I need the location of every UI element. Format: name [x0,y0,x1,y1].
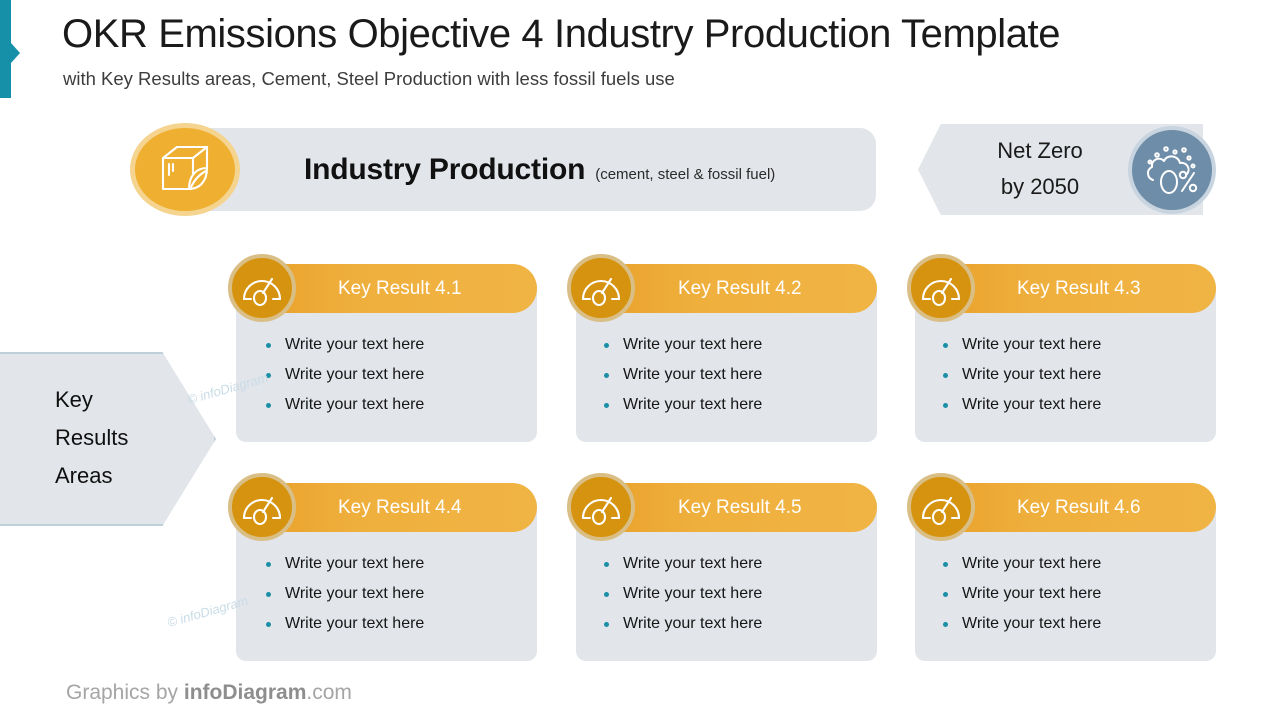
list-item[interactable]: Write your text here [604,579,854,609]
bullet-dot-icon [266,343,271,348]
bullet-dot-icon [943,373,948,378]
bullet-text: Write your text here [623,336,762,354]
bullet-text: Write your text here [623,585,762,603]
bullet-dot-icon [604,592,609,597]
bullet-text: Write your text here [285,396,424,414]
net-zero-text: Net Zero by 2050 [960,133,1120,205]
key-result-bullet-list: Write your text here Write your text her… [266,330,516,420]
bullet-dot-icon [266,562,271,567]
key-result-header-bar[interactable]: Key Result 4.1 [256,264,537,313]
list-item[interactable]: Write your text here [604,549,854,579]
bullet-text: Write your text here [623,366,762,384]
key-result-label: Key Result 4.1 [338,264,462,313]
key-result-header-bar[interactable]: Key Result 4.2 [596,264,877,313]
list-item[interactable]: Write your text here [604,390,854,420]
list-item[interactable]: Write your text here [266,579,516,609]
list-item[interactable]: Write your text here [266,360,516,390]
gauge-icon [228,473,296,541]
footer-prefix: Graphics by [66,681,184,704]
gauge-icon [567,473,635,541]
bullet-dot-icon [943,622,948,627]
gauge-icon [228,254,296,322]
bullet-dot-icon [943,343,948,348]
list-item[interactable]: Write your text here [266,390,516,420]
list-item[interactable]: Write your text here [943,390,1193,420]
list-item[interactable]: Write your text here [604,360,854,390]
key-result-label: Key Result 4.4 [338,483,462,532]
bullet-dot-icon [943,562,948,567]
bullet-dot-icon [604,403,609,408]
bullet-dot-icon [604,373,609,378]
bullet-text: Write your text here [285,555,424,573]
objective-subtitle: (cement, steel & fossil fuel) [595,166,775,183]
bullet-text: Write your text here [962,615,1101,633]
kra-line2: Results [55,419,128,457]
bullet-text: Write your text here [285,615,424,633]
bullet-text: Write your text here [962,585,1101,603]
objective-title: Industry Production [304,153,585,187]
bullet-text: Write your text here [623,615,762,633]
page-title: OKR Emissions Objective 4 Industry Produ… [62,12,1060,57]
bullet-text: Write your text here [623,396,762,414]
bullet-text: Write your text here [285,336,424,354]
list-item[interactable]: Write your text here [266,330,516,360]
footer-brand: infoDiagram [184,681,307,704]
slide-canvas: OKR Emissions Objective 4 Industry Produ… [0,0,1280,720]
list-item[interactable]: Write your text here [266,609,516,639]
gauge-icon [567,254,635,322]
key-result-header-bar[interactable]: Key Result 4.3 [935,264,1216,313]
key-result-header-bar[interactable]: Key Result 4.6 [935,483,1216,532]
objective-bar[interactable]: Industry Production (cement, steel & fos… [184,128,876,211]
list-item[interactable]: Write your text here [943,609,1193,639]
bullet-text: Write your text here [962,555,1101,573]
teal-accent-bar [0,0,11,98]
key-result-label: Key Result 4.2 [678,264,802,313]
gauge-icon [907,473,975,541]
teal-accent-arrow-icon [11,43,20,63]
bullet-text: Write your text here [285,366,424,384]
box-leaf-icon [130,123,240,216]
key-result-header-bar[interactable]: Key Result 4.5 [596,483,877,532]
list-item[interactable]: Write your text here [943,360,1193,390]
bullet-dot-icon [943,592,948,597]
key-result-bullet-list: Write your text here Write your text her… [943,549,1193,639]
list-item[interactable]: Write your text here [943,579,1193,609]
key-result-label: Key Result 4.6 [1017,483,1141,532]
key-result-label: Key Result 4.3 [1017,264,1141,313]
list-item[interactable]: Write your text here [943,549,1193,579]
bullet-text: Write your text here [962,336,1101,354]
key-result-header-bar[interactable]: Key Result 4.4 [256,483,537,532]
key-result-bullet-list: Write your text here Write your text her… [604,549,854,639]
bullet-dot-icon [266,592,271,597]
bullet-dot-icon [266,622,271,627]
list-item[interactable]: Write your text here [266,549,516,579]
cloud-zero-percent-icon [1128,126,1216,214]
bullet-dot-icon [943,403,948,408]
key-result-bullet-list: Write your text here Write your text her… [604,330,854,420]
net-zero-line1: Net Zero [960,133,1120,169]
list-item[interactable]: Write your text here [604,330,854,360]
bullet-text: Write your text here [285,585,424,603]
key-results-areas-label: Key Results Areas [55,381,128,495]
gauge-icon [907,254,975,322]
key-result-bullet-list: Write your text here Write your text her… [943,330,1193,420]
bullet-text: Write your text here [962,366,1101,384]
list-item[interactable]: Write your text here [943,330,1193,360]
list-item[interactable]: Write your text here [604,609,854,639]
footer-suffix: .com [306,681,352,704]
bullet-text: Write your text here [623,555,762,573]
kra-line1: Key [55,381,128,419]
page-subtitle: with Key Results areas, Cement, Steel Pr… [63,68,675,90]
footer-credit: Graphics by infoDiagram.com [66,681,352,705]
key-result-bullet-list: Write your text here Write your text her… [266,549,516,639]
bullet-dot-icon [266,373,271,378]
bullet-text: Write your text here [962,396,1101,414]
bullet-dot-icon [604,562,609,567]
bullet-dot-icon [604,622,609,627]
net-zero-line2: by 2050 [960,169,1120,205]
kra-line3: Areas [55,457,128,495]
bullet-dot-icon [266,403,271,408]
bullet-dot-icon [604,343,609,348]
objective-text-group: Industry Production (cement, steel & fos… [304,153,775,187]
key-result-label: Key Result 4.5 [678,483,802,532]
